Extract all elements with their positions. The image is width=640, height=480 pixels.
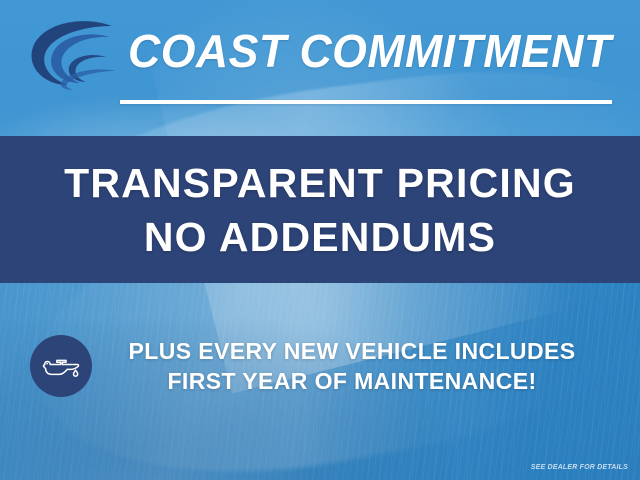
disclaimer-text: SEE DEALER FOR DETAILS	[531, 464, 628, 471]
coast-wave-swirl-logo-icon	[24, 17, 120, 93]
headline-band: TRANSPARENT PRICING NO ADDENDUMS	[0, 136, 640, 283]
brand-title: COAST COMMITMENT	[128, 24, 605, 78]
promo-line-2: FIRST YEAR OF MAINTENANCE!	[106, 366, 598, 396]
promo-row: PLUS EVERY NEW VEHICLE INCLUDES FIRST YE…	[0, 316, 640, 416]
promo-text: PLUS EVERY NEW VEHICLE INCLUDES FIRST YE…	[106, 336, 598, 396]
promo-line-1: PLUS EVERY NEW VEHICLE INCLUDES	[106, 336, 598, 366]
header-divider	[120, 100, 612, 104]
coast-commitment-banner: COAST COMMITMENT TRANSPARENT PRICING NO …	[0, 0, 640, 480]
oil-can-icon	[41, 353, 81, 379]
headline-line-2: NO ADDENDUMS	[144, 210, 496, 264]
headline-line-1: TRANSPARENT PRICING	[64, 156, 576, 210]
oil-can-badge	[30, 335, 92, 397]
banner-header: COAST COMMITMENT	[0, 0, 640, 136]
